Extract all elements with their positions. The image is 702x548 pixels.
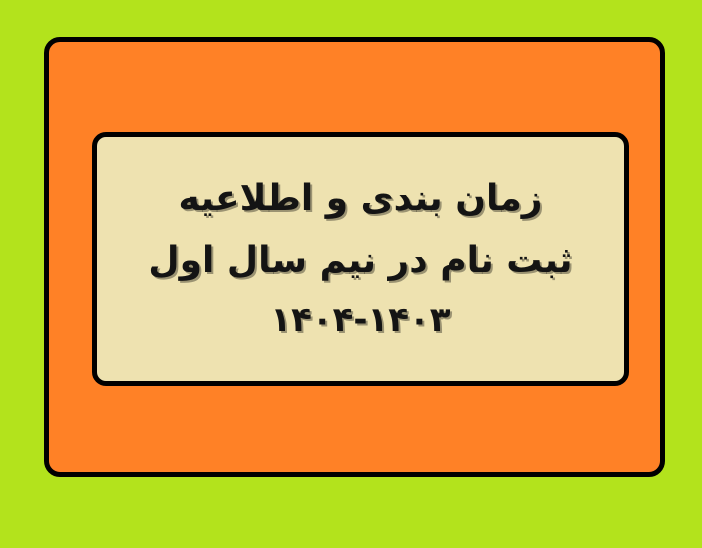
announcement-title-line-2: ثبت نام در نیم سال اول <box>97 243 624 279</box>
announcement-canvas: زمان بندی و اطلاعیه ثبت نام در نیم سال ا… <box>0 0 702 548</box>
outer-orange-frame: زمان بندی و اطلاعیه ثبت نام در نیم سال ا… <box>44 37 665 477</box>
announcement-title-line-1: زمان بندی و اطلاعیه <box>97 181 624 217</box>
announcement-academic-year: ۱۴۰۴-۱۴۰۳ <box>97 303 624 337</box>
announcement-card: زمان بندی و اطلاعیه ثبت نام در نیم سال ا… <box>92 132 629 386</box>
